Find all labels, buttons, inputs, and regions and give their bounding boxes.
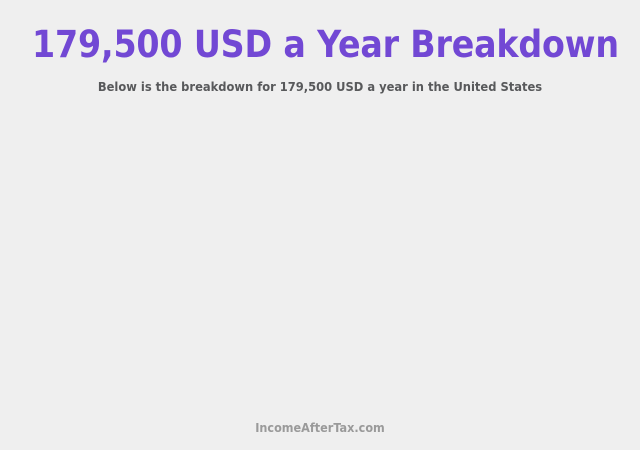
- breakdown-page: 179,500 USD a Year Breakdown Below is th…: [0, 0, 640, 450]
- page-footer: IncomeAfterTax.com: [0, 420, 640, 450]
- content-area: [0, 95, 640, 420]
- page-header: 179,500 USD a Year Breakdown Below is th…: [0, 0, 640, 95]
- page-subtitle: Below is the breakdown for 179,500 USD a…: [26, 78, 615, 95]
- page-title: 179,500 USD a Year Breakdown: [32, 22, 608, 68]
- site-credit: IncomeAfterTax.com: [32, 420, 608, 436]
